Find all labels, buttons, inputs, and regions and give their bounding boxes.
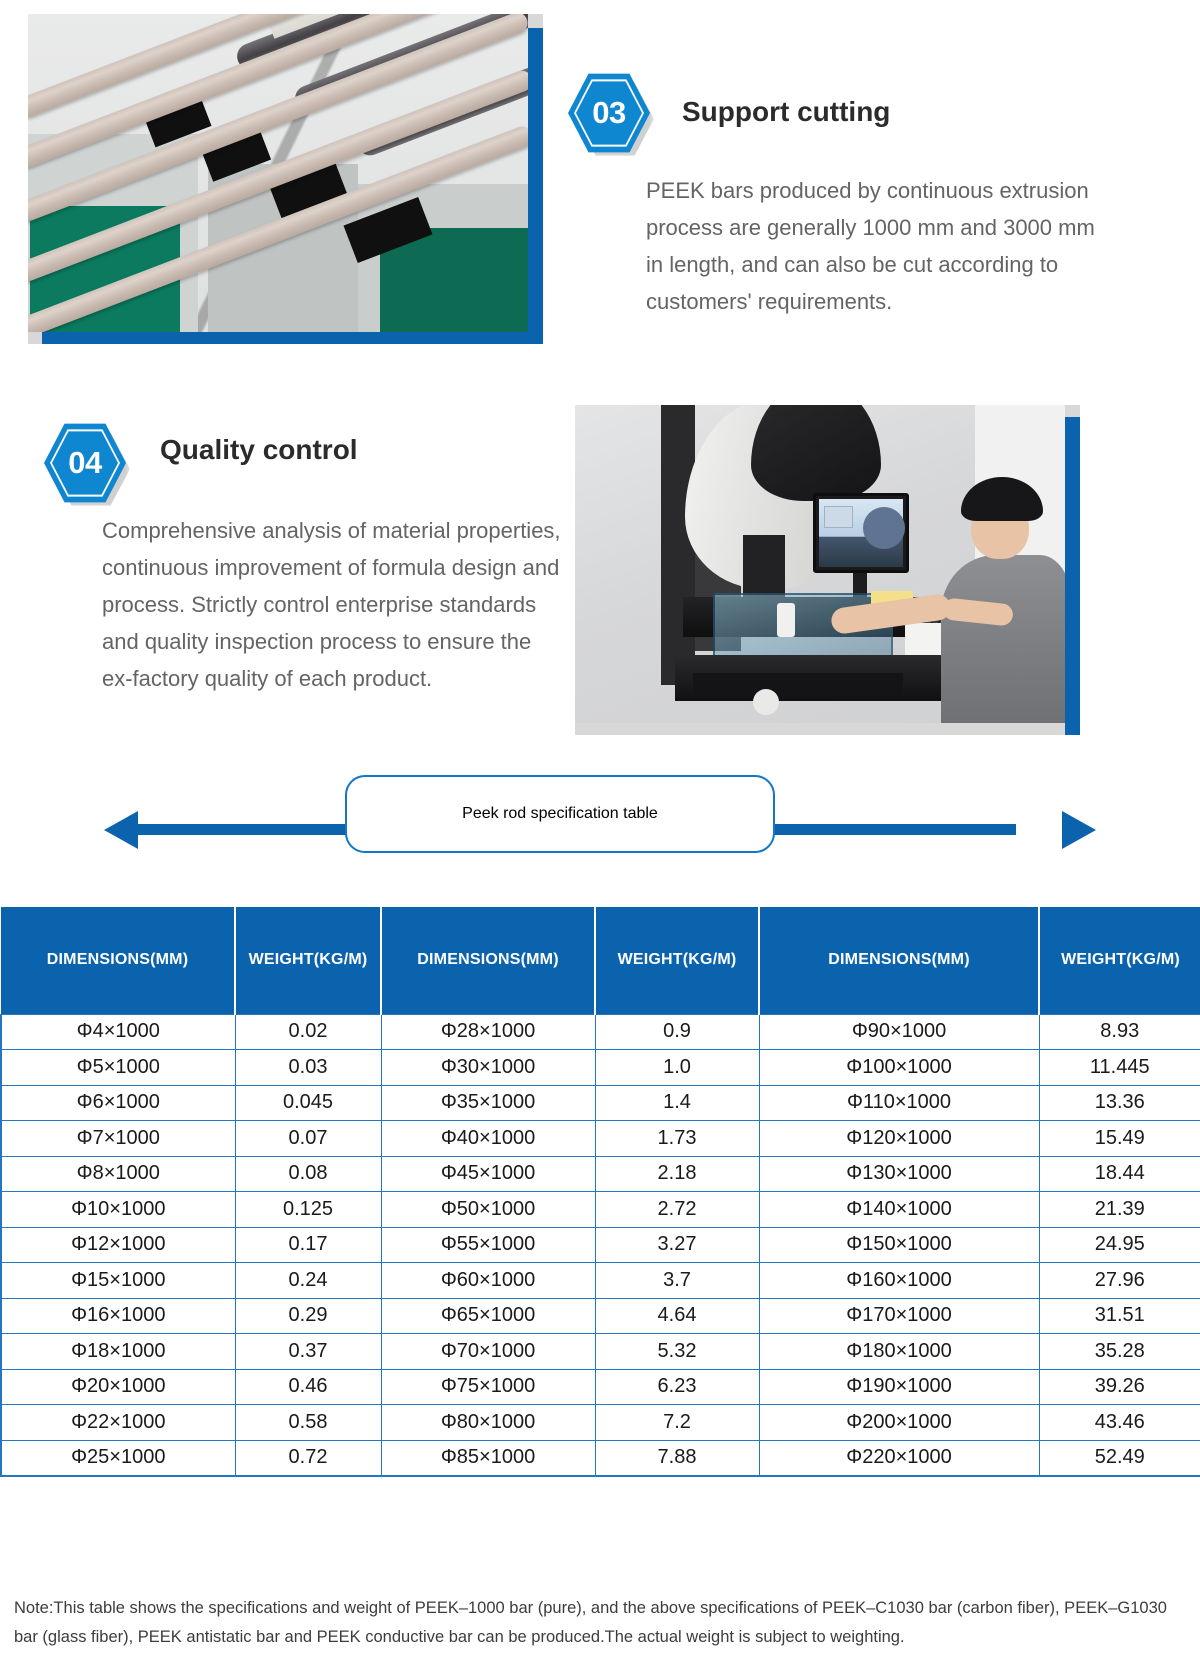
table-cell: Φ110×1000	[759, 1085, 1039, 1121]
section-body-support-cutting: PEEK bars produced by continuous extrusi…	[646, 172, 1116, 320]
table-cell: Φ6×1000	[1, 1085, 235, 1121]
table-cell: Φ5×1000	[1, 1050, 235, 1086]
table-cell: Φ20×1000	[1, 1369, 235, 1405]
table-cell: 52.49	[1039, 1440, 1200, 1476]
table-cell: 8.93	[1039, 1014, 1200, 1050]
table-cell: Φ60×1000	[381, 1263, 595, 1299]
table-cell: Φ170×1000	[759, 1298, 1039, 1334]
photo-accent-right	[528, 28, 543, 344]
table-cell: 1.73	[595, 1121, 759, 1157]
table-cell: Φ120×1000	[759, 1121, 1039, 1157]
arrow-right-icon	[1062, 811, 1096, 849]
column-header: WEIGHT(KG/M)	[235, 907, 381, 1014]
table-cell: Φ180×1000	[759, 1334, 1039, 1370]
table-cell: Φ35×1000	[381, 1085, 595, 1121]
table-cell: Φ15×1000	[1, 1263, 235, 1299]
table-cell: 11.445	[1039, 1050, 1200, 1086]
table-row: Φ10×10000.125Φ50×10002.72Φ140×100021.39	[1, 1192, 1200, 1228]
table-cell: Φ160×1000	[759, 1263, 1039, 1299]
table-cell: 6.23	[595, 1369, 759, 1405]
table-cell: Φ70×1000	[381, 1334, 595, 1370]
table-cell: 2.18	[595, 1156, 759, 1192]
table-cell: Φ65×1000	[381, 1298, 595, 1334]
table-row: Φ6×10000.045Φ35×10001.4Φ110×100013.36	[1, 1085, 1200, 1121]
table-cell: Φ45×1000	[381, 1156, 595, 1192]
table-row: Φ5×10000.03Φ30×10001.0Φ100×100011.445	[1, 1050, 1200, 1086]
table-cell: 3.7	[595, 1263, 759, 1299]
table-cell: Φ200×1000	[759, 1405, 1039, 1441]
table-row: Φ12×10000.17Φ55×10003.27Φ150×100024.95	[1, 1227, 1200, 1263]
column-header: WEIGHT(KG/M)	[1039, 907, 1200, 1014]
section-number: 04	[44, 422, 126, 504]
table-cell: 5.32	[595, 1334, 759, 1370]
table-cell: 0.46	[235, 1369, 381, 1405]
column-header: DIMENSIONS(MM)	[1, 907, 235, 1014]
table-cell: 0.17	[235, 1227, 381, 1263]
table-cell: Φ22×1000	[1, 1405, 235, 1441]
banner-title-pill: Peek rod specification table	[345, 775, 775, 853]
table-row: Φ25×10000.72Φ85×10007.88Φ220×100052.49	[1, 1440, 1200, 1476]
table-cell: Φ220×1000	[759, 1440, 1039, 1476]
page-root: 03 Support cutting PEEK bars produced by…	[0, 0, 1200, 1668]
table-cell: 0.02	[235, 1014, 381, 1050]
photo-image	[28, 14, 528, 332]
table-cell: 0.58	[235, 1405, 381, 1441]
table-row: Φ18×10000.37Φ70×10005.32Φ180×100035.28	[1, 1334, 1200, 1370]
table-note: Note:This table shows the specifications…	[14, 1594, 1194, 1652]
quality-control-photo	[575, 405, 1080, 735]
table-cell: 24.95	[1039, 1227, 1200, 1263]
table-cell: Φ18×1000	[1, 1334, 235, 1370]
photo-image	[575, 405, 1065, 723]
table-cell: 0.72	[235, 1440, 381, 1476]
table-row: Φ8×10000.08Φ45×10002.18Φ130×100018.44	[1, 1156, 1200, 1192]
table-cell: 39.26	[1039, 1369, 1200, 1405]
table-cell: 43.46	[1039, 1405, 1200, 1441]
table-cell: 18.44	[1039, 1156, 1200, 1192]
section-body-quality-control: Comprehensive analysis of material prope…	[102, 512, 564, 697]
photo-accent-right	[1065, 417, 1080, 735]
table-cell: 0.08	[235, 1156, 381, 1192]
table-cell: 13.36	[1039, 1085, 1200, 1121]
table-cell: 1.4	[595, 1085, 759, 1121]
table-cell: Φ30×1000	[381, 1050, 595, 1086]
table-cell: 0.125	[235, 1192, 381, 1228]
table-cell: Φ85×1000	[381, 1440, 595, 1476]
table-cell: Φ55×1000	[381, 1227, 595, 1263]
table-cell: 4.64	[595, 1298, 759, 1334]
table-row: Φ16×10000.29Φ65×10004.64Φ170×100031.51	[1, 1298, 1200, 1334]
table-cell: Φ28×1000	[381, 1014, 595, 1050]
table-row: Φ7×10000.07Φ40×10001.73Φ120×100015.49	[1, 1121, 1200, 1157]
table-cell: 15.49	[1039, 1121, 1200, 1157]
table-cell: Φ25×1000	[1, 1440, 235, 1476]
table-cell: Φ150×1000	[759, 1227, 1039, 1263]
table-row: Φ22×10000.58Φ80×10007.2Φ200×100043.46	[1, 1405, 1200, 1441]
table-cell: 0.07	[235, 1121, 381, 1157]
peek-rod-spec-table: DIMENSIONS(MM) WEIGHT(KG/M) DIMENSIONS(M…	[0, 907, 1200, 1477]
table-cell: Φ90×1000	[759, 1014, 1039, 1050]
table-cell: 7.2	[595, 1405, 759, 1441]
column-header: DIMENSIONS(MM)	[381, 907, 595, 1014]
banner-title: Peek rod specification table	[462, 805, 658, 823]
table-cell: Φ140×1000	[759, 1192, 1039, 1228]
table-cell: 3.27	[595, 1227, 759, 1263]
table-cell: 0.9	[595, 1014, 759, 1050]
table-cell: Φ12×1000	[1, 1227, 235, 1263]
table-row: Φ4×10000.02Φ28×10000.9Φ90×10008.93	[1, 1014, 1200, 1050]
table-row: Φ20×10000.46Φ75×10006.23Φ190×100039.26	[1, 1369, 1200, 1405]
column-header: DIMENSIONS(MM)	[759, 907, 1039, 1014]
section-title-support-cutting: Support cutting	[682, 96, 890, 128]
table-cell: Φ190×1000	[759, 1369, 1039, 1405]
section-badge-04: 04	[44, 422, 126, 504]
table-cell: Φ80×1000	[381, 1405, 595, 1441]
section-number: 03	[568, 72, 650, 154]
table-body: Φ4×10000.02Φ28×10000.9Φ90×10008.93Φ5×100…	[1, 1014, 1200, 1476]
photo-accent-bottom	[42, 332, 543, 344]
table-cell: 0.03	[235, 1050, 381, 1086]
table-cell: Φ40×1000	[381, 1121, 595, 1157]
table-cell: Φ4×1000	[1, 1014, 235, 1050]
table-header-row: DIMENSIONS(MM) WEIGHT(KG/M) DIMENSIONS(M…	[1, 907, 1200, 1014]
table-cell: 2.72	[595, 1192, 759, 1228]
table-cell: 27.96	[1039, 1263, 1200, 1299]
section-title-quality-control: Quality control	[160, 434, 358, 466]
table-cell: Φ7×1000	[1, 1121, 235, 1157]
table-cell: 35.28	[1039, 1334, 1200, 1370]
table-row: Φ15×10000.24Φ60×10003.7Φ160×100027.96	[1, 1263, 1200, 1299]
table-cell: Φ75×1000	[381, 1369, 595, 1405]
arrow-left-icon	[104, 811, 138, 849]
table-cell: 1.0	[595, 1050, 759, 1086]
column-header: WEIGHT(KG/M)	[595, 907, 759, 1014]
table-cell: Φ16×1000	[1, 1298, 235, 1334]
table-cell: 0.37	[235, 1334, 381, 1370]
table-cell: 7.88	[595, 1440, 759, 1476]
section-badge-03: 03	[568, 72, 650, 154]
table-cell: Φ50×1000	[381, 1192, 595, 1228]
table-cell: 21.39	[1039, 1192, 1200, 1228]
table-cell: 31.51	[1039, 1298, 1200, 1334]
table-cell: Φ100×1000	[759, 1050, 1039, 1086]
table-cell: Φ8×1000	[1, 1156, 235, 1192]
table-cell: 0.29	[235, 1298, 381, 1334]
table-cell: Φ130×1000	[759, 1156, 1039, 1192]
table-cell: Φ10×1000	[1, 1192, 235, 1228]
table-cell: 0.24	[235, 1263, 381, 1299]
support-cutting-photo	[28, 14, 543, 344]
table-cell: 0.045	[235, 1085, 381, 1121]
